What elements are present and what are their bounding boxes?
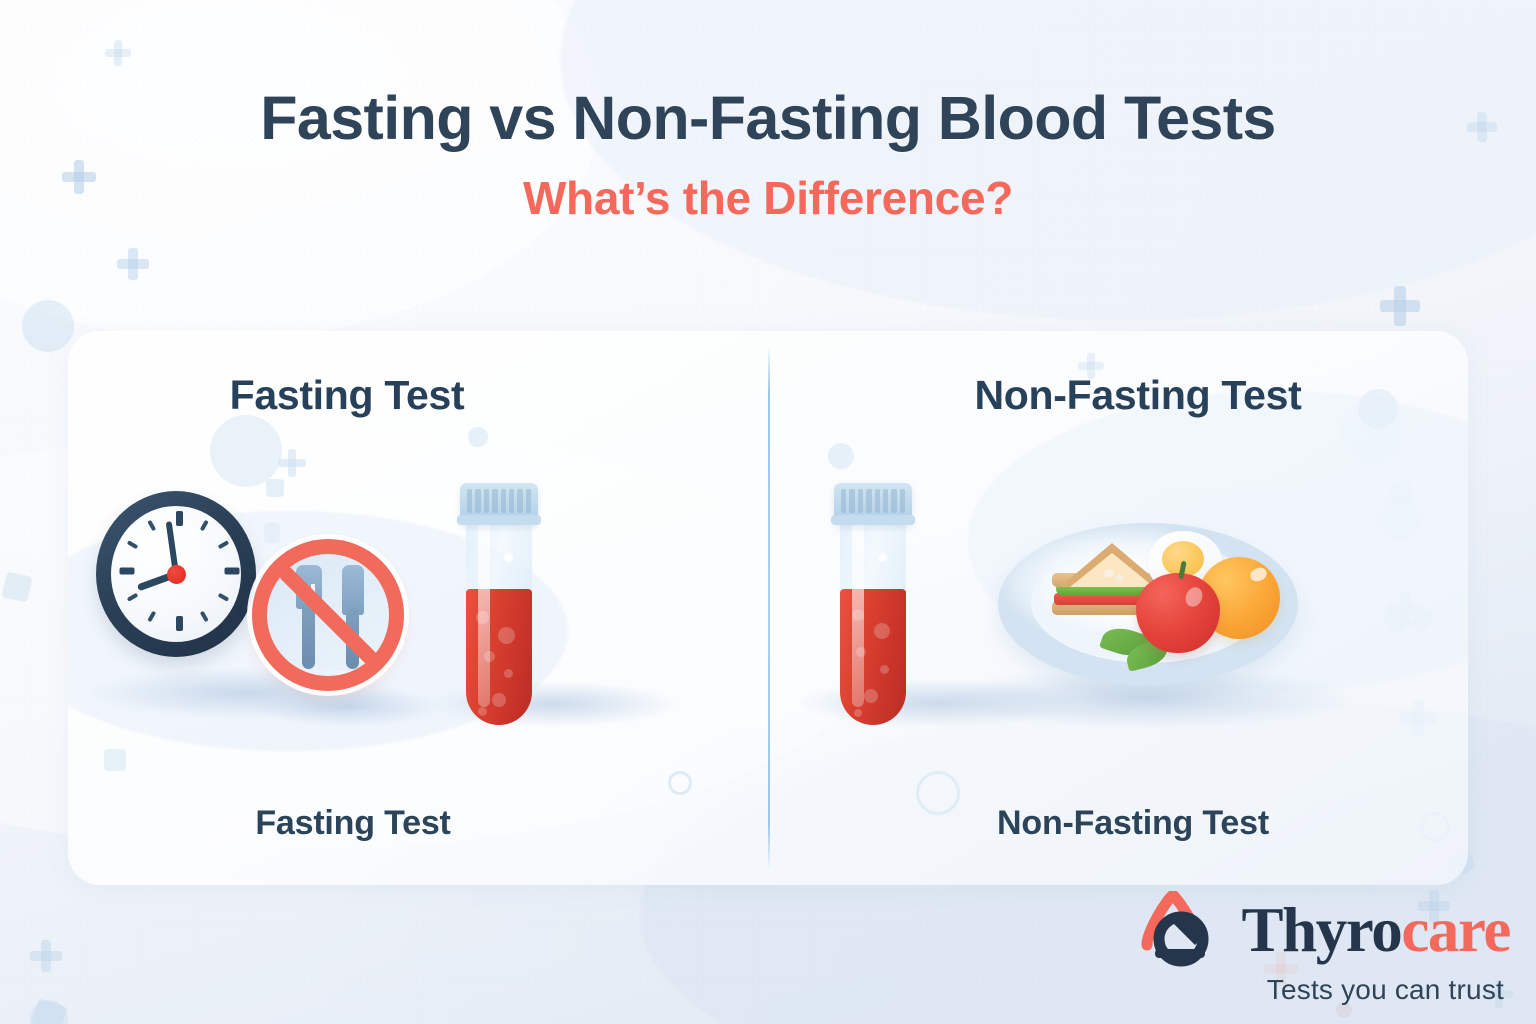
clock-tick — [200, 611, 209, 623]
tube-glass — [466, 509, 532, 725]
bg-circle — [30, 1000, 68, 1024]
clock-center-dot — [167, 565, 186, 584]
microscope-droplet-logo-icon — [1137, 891, 1229, 969]
orange-highlight — [1248, 565, 1269, 583]
shadow-ellipse — [254, 687, 444, 727]
panel-heading-fasting: Fasting Test — [68, 372, 768, 419]
fasting-illustration — [68, 481, 768, 761]
tube-glass — [840, 509, 906, 725]
blood-bubble — [854, 709, 862, 717]
blood-bubble — [478, 707, 487, 716]
tube-highlight — [852, 521, 864, 707]
tube-highlight-dot — [504, 553, 513, 562]
medical-cross-icon — [1380, 286, 1420, 326]
clock-tick — [147, 520, 156, 532]
logo-wordmark: Thyrocare — [1241, 899, 1510, 962]
tube-cap-lip — [457, 515, 541, 525]
logo-tagline: Tests you can trust — [1137, 974, 1510, 1006]
clock-tick — [147, 611, 156, 623]
clock-tick — [218, 540, 230, 549]
clock-icon — [96, 491, 256, 657]
medical-cross-icon — [30, 940, 62, 972]
page-title: Fasting vs Non-Fasting Blood Tests — [0, 86, 1536, 150]
tube-blood-fill — [840, 589, 906, 725]
tube-cap — [834, 483, 912, 525]
blood-bubble — [864, 689, 878, 703]
panel-caption-fasting: Fasting Test — [68, 804, 768, 843]
sandwich-hole — [1104, 569, 1114, 577]
no-food-icon — [252, 539, 404, 691]
tube-highlight-dot — [878, 553, 887, 562]
blood-bubble — [880, 665, 889, 674]
tube-cap-ribs — [841, 489, 905, 513]
blood-bubble — [504, 669, 513, 678]
tube-highlight — [478, 521, 490, 707]
logo-row: Thyrocare — [1137, 891, 1510, 969]
clock-tick — [176, 511, 183, 526]
sandwich-hole — [1116, 575, 1123, 581]
apple-icon — [1136, 573, 1220, 653]
apple-highlight — [1183, 585, 1206, 610]
medical-cross-icon — [117, 248, 149, 280]
clock-tick — [176, 616, 183, 631]
bg-square — [30, 998, 67, 1024]
plate-of-food-icon — [998, 505, 1298, 695]
blood-bubble — [492, 693, 506, 707]
header: Fasting vs Non-Fasting Blood Tests What’… — [0, 86, 1536, 225]
logo-name-primary: Thyro — [1241, 895, 1401, 965]
logo-name-accent: care — [1401, 895, 1510, 965]
medical-cross-icon — [1380, 280, 1418, 318]
clock-tick — [120, 568, 135, 575]
panel-fasting-test: Fasting Test — [68, 331, 768, 885]
panel-caption-non-fasting: Non-Fasting Test — [768, 804, 1468, 843]
clock-tick — [127, 540, 139, 549]
tube-blood-fill — [466, 589, 532, 725]
comparison-card: Fasting Test — [68, 331, 1468, 885]
brand-logo[interactable]: Thyrocare Tests you can trust — [1137, 891, 1510, 1006]
panel-non-fasting-test: Non-Fasting Test — [768, 331, 1468, 885]
clock-tick — [218, 593, 230, 602]
tube-cap-lip — [831, 515, 915, 525]
clock-tick — [200, 520, 209, 532]
non-fasting-illustration — [768, 481, 1468, 761]
blood-test-tube-icon — [460, 483, 538, 725]
bg-square — [2, 572, 33, 603]
panel-heading-non-fasting: Non-Fasting Test — [768, 372, 1468, 419]
tube-cap-ribs — [467, 489, 531, 513]
tube-cap — [460, 483, 538, 525]
clock-tick — [225, 568, 240, 575]
infographic-canvas: Fasting vs Non-Fasting Blood Tests What’… — [0, 0, 1536, 1024]
blood-bubble — [874, 623, 890, 639]
medical-cross-icon — [105, 40, 131, 66]
blood-test-tube-icon — [834, 483, 912, 725]
bg-circle — [22, 300, 74, 352]
clock-tick — [127, 593, 139, 602]
page-subtitle: What’s the Difference? — [0, 171, 1536, 225]
blood-bubble — [498, 627, 515, 644]
